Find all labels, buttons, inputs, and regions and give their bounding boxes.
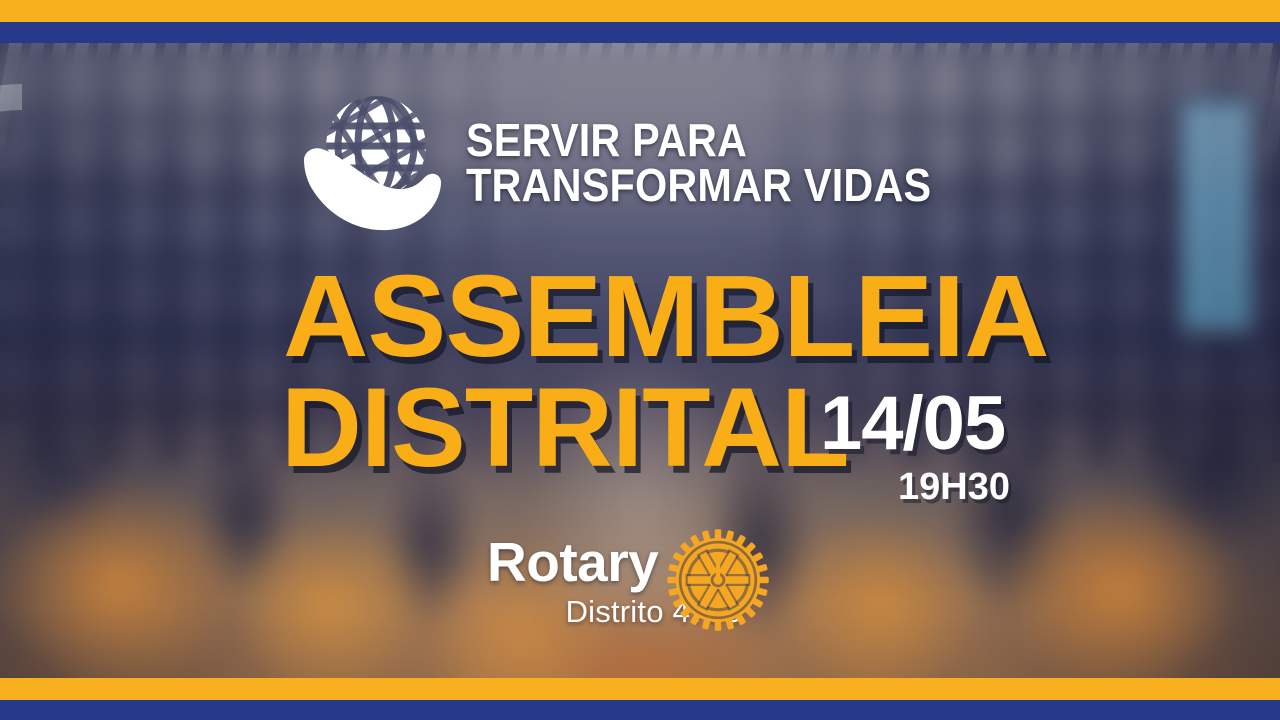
rotary-lockup: Rotary Distrito 4730 <box>487 530 772 634</box>
rotary-wheel-icon <box>664 526 772 634</box>
rotary-name: Rotary <box>487 536 658 589</box>
rotary-wordmark: Rotary Distrito 4730 <box>487 530 658 629</box>
bottom-blue-bar <box>0 700 1280 720</box>
bottom-yellow-bar <box>0 678 1280 700</box>
theme-tagline-line2: TRANSFORMAR VIDAS <box>466 163 931 208</box>
theme-tagline: SERVIR PARA TRANSFORMAR VIDAS <box>466 118 931 207</box>
top-blue-bar <box>0 22 1280 43</box>
theme-lockup: SERVIR PARA TRANSFORMAR VIDAS <box>300 88 983 238</box>
globe-in-hand-icon <box>300 88 448 238</box>
top-yellow-bar <box>0 0 1280 22</box>
flyer-canvas: SERVIR PARA TRANSFORMAR VIDAS ASSEMBLEIA… <box>0 0 1280 720</box>
theme-tagline-line1: SERVIR PARA <box>466 118 931 163</box>
